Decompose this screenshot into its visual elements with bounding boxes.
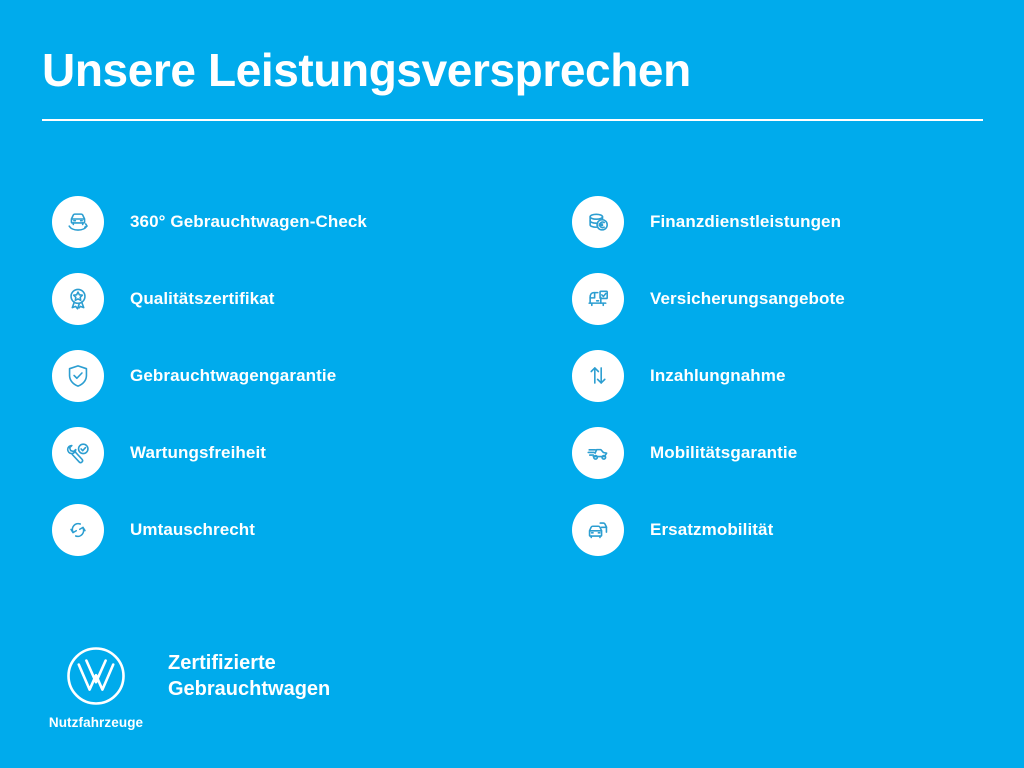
brand-claim-line-1: Zertifizierte bbox=[168, 650, 330, 676]
car-checkbox-icon bbox=[572, 273, 624, 325]
brand-claim: Zertifizierte Gebrauchtwagen bbox=[168, 650, 330, 703]
benefit-item[interactable]: Finanzdienstleistungen bbox=[572, 196, 1024, 248]
award-rosette-icon bbox=[52, 273, 104, 325]
benefit-item[interactable]: Mobilitätsgarantie bbox=[572, 427, 1024, 479]
benefit-item[interactable]: Gebrauchtwagengarantie bbox=[52, 350, 512, 402]
brand-mark: Nutzfahrzeuge bbox=[42, 644, 150, 730]
benefit-item[interactable]: Versicherungsangebote bbox=[572, 273, 1024, 325]
benefit-label: 360° Gebrauchtwagen-Check bbox=[130, 212, 367, 232]
benefits-column-right: Finanzdienstleistungen Versicheru bbox=[512, 196, 1024, 556]
benefit-label: Ersatzmobilität bbox=[650, 520, 773, 540]
wrench-check-icon bbox=[52, 427, 104, 479]
car-speed-icon bbox=[572, 427, 624, 479]
car-360-check-icon bbox=[52, 196, 104, 248]
benefit-label: Gebrauchtwagengarantie bbox=[130, 366, 336, 386]
benefit-item[interactable]: Wartungsfreiheit bbox=[52, 427, 512, 479]
brand-sub-label: Nutzfahrzeuge bbox=[49, 715, 143, 730]
benefit-item[interactable]: 360° Gebrauchtwagen-Check bbox=[52, 196, 512, 248]
shield-check-icon bbox=[52, 350, 104, 402]
page-title: Unsere Leistungsversprechen bbox=[42, 46, 983, 94]
benefit-label: Finanzdienstleistungen bbox=[650, 212, 841, 232]
benefit-item[interactable]: Umtauschrecht bbox=[52, 504, 512, 556]
benefit-item[interactable]: Ersatzmobilität bbox=[572, 504, 1024, 556]
brand-claim-line-2: Gebrauchtwagen bbox=[168, 676, 330, 702]
slide-root: Unsere Leistungsversprechen 360° Gebrauc bbox=[0, 0, 1024, 768]
benefit-label: Wartungsfreiheit bbox=[130, 443, 266, 463]
benefit-label: Umtauschrecht bbox=[130, 520, 255, 540]
benefits-grid: 360° Gebrauchtwagen-Check Qualitätszerti… bbox=[0, 196, 1024, 556]
arrows-up-down-icon bbox=[572, 350, 624, 402]
title-divider bbox=[42, 119, 983, 121]
brand-lockup: Nutzfahrzeuge Zertifizierte Gebrauchtwag… bbox=[42, 644, 330, 730]
slide-header: Unsere Leistungsversprechen bbox=[42, 46, 983, 121]
volkswagen-logo bbox=[64, 644, 128, 708]
benefit-label: Mobilitätsgarantie bbox=[650, 443, 797, 463]
benefit-item[interactable]: Qualitätszertifikat bbox=[52, 273, 512, 325]
two-cars-icon bbox=[572, 504, 624, 556]
benefit-item[interactable]: Inzahlungnahme bbox=[572, 350, 1024, 402]
exchange-arrows-icon bbox=[52, 504, 104, 556]
benefits-column-left: 360° Gebrauchtwagen-Check Qualitätszerti… bbox=[0, 196, 512, 556]
benefit-label: Qualitätszertifikat bbox=[130, 289, 275, 309]
benefit-label: Inzahlungnahme bbox=[650, 366, 786, 386]
benefit-label: Versicherungsangebote bbox=[650, 289, 845, 309]
coins-euro-icon bbox=[572, 196, 624, 248]
